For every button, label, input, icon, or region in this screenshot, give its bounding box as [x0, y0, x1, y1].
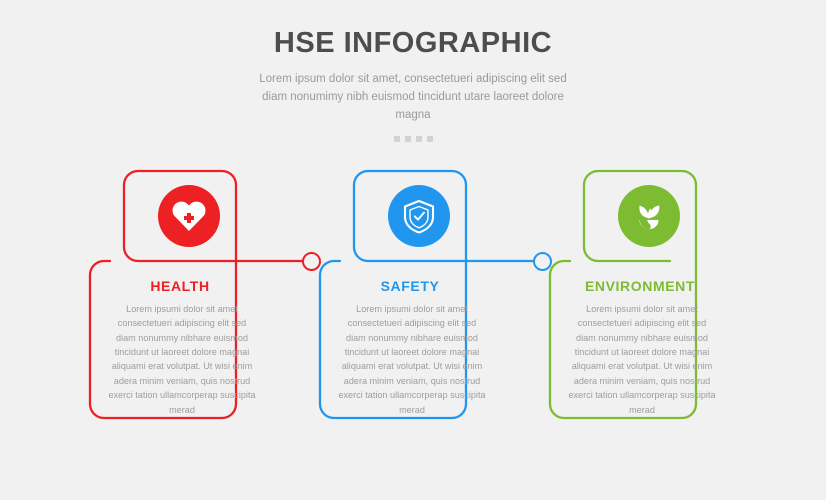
card-safety: SAFETY Lorem ipsumi dolor sit amet conse… [320, 170, 570, 430]
card-heading-health: HEALTH [90, 278, 270, 294]
shield-check-icon [399, 196, 439, 236]
decorative-dot [416, 136, 422, 142]
connector-safety-environment [533, 252, 552, 271]
decorative-dot [405, 136, 411, 142]
icon-circle-health [158, 185, 220, 247]
card-body-environment: Lorem ipsumi dolor sit amet consectetuer… [568, 302, 716, 417]
icon-circle-environment [618, 185, 680, 247]
card-body-safety: Lorem ipsumi dolor sit amet consectetuer… [338, 302, 486, 417]
decorative-dot [427, 136, 433, 142]
card-environment: ENVIRONMENT Lorem ipsumi dolor sit amet … [550, 170, 800, 430]
card-heading-environment: ENVIRONMENT [550, 278, 730, 294]
page-title: HSE INFOGRAPHIC [0, 27, 826, 60]
card-heading-safety: SAFETY [320, 278, 500, 294]
connector-health-safety [302, 252, 321, 271]
decorative-dot [394, 136, 400, 142]
header: HSE INFOGRAPHIC Lorem ipsum dolor sit am… [0, 0, 826, 142]
infographic-canvas: HSE INFOGRAPHIC Lorem ipsum dolor sit am… [0, 0, 826, 500]
heart-medical-cross-icon [169, 196, 209, 236]
page-subtitle: Lorem ipsum dolor sit amet, consectetuer… [258, 71, 568, 124]
card-body-health: Lorem ipsumi dolor sit amet consectetuer… [108, 302, 256, 417]
plant-bowl-leaves-icon [629, 196, 669, 236]
card-health: HEALTH Lorem ipsumi dolor sit amet conse… [90, 170, 340, 430]
icon-circle-safety [388, 185, 450, 247]
decorative-dots [0, 136, 826, 142]
